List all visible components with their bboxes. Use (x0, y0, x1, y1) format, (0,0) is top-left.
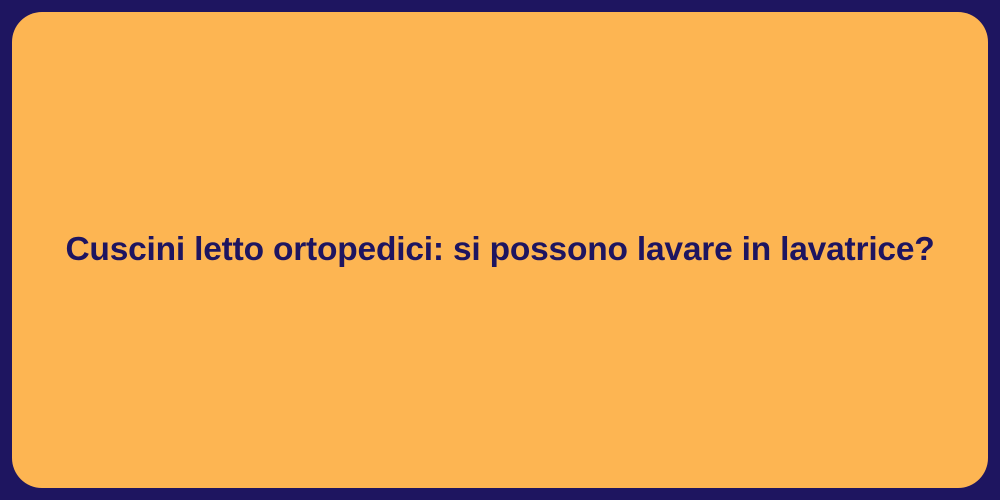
content-panel: Cuscini letto ortopedici: si possono lav… (12, 12, 988, 488)
card-canvas: Cuscini letto ortopedici: si possono lav… (0, 0, 1000, 500)
page-title: Cuscini letto ortopedici: si possono lav… (12, 229, 988, 271)
